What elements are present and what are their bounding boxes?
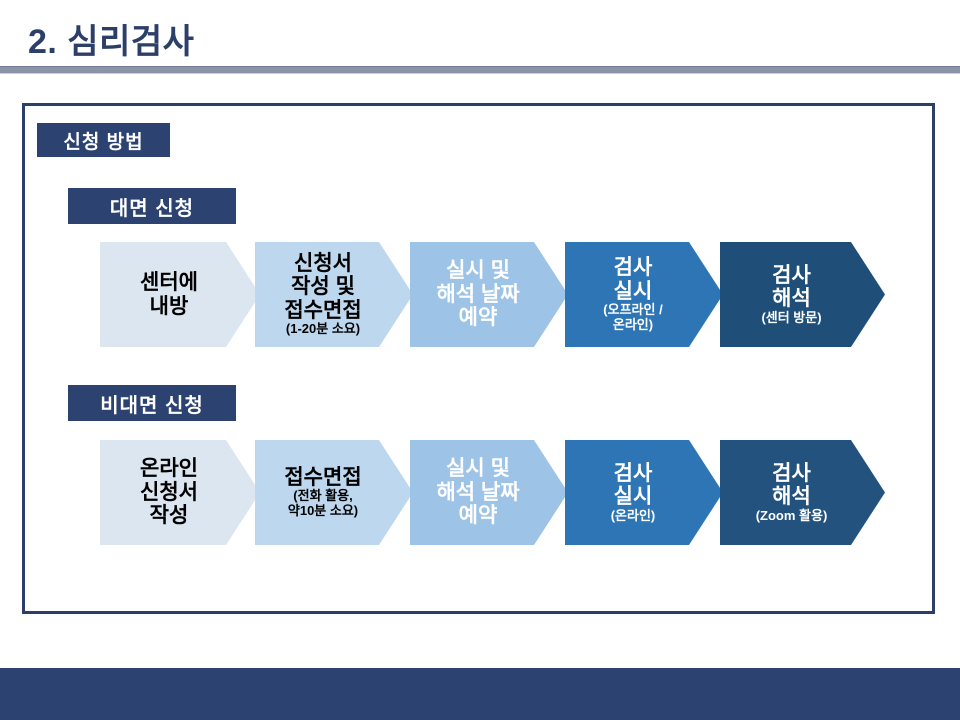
flow-step-sub-line: 온라인) bbox=[603, 318, 662, 333]
flow-step-online-1: 온라인신청서작성 bbox=[100, 440, 260, 545]
flow-step-sub-line: (전화 활용, bbox=[284, 489, 361, 504]
flow-step-main-line: 내방 bbox=[140, 295, 198, 319]
page-title: 2. 심리검사 bbox=[28, 14, 194, 63]
flow-step-content: 검사실시(오프라인 /온라인) bbox=[603, 256, 684, 333]
flow-step-main-line: 해석 bbox=[761, 287, 821, 311]
flow-step-sub-line: (Zoom 활용) bbox=[756, 509, 828, 524]
flow-step-content: 검사해석(센터 방문) bbox=[761, 264, 843, 326]
flow-step-main-line: 실시 bbox=[603, 280, 662, 304]
flow-step-content: 온라인신청서작성 bbox=[140, 457, 220, 528]
flow-step-content: 접수면접(전화 활용,약10분 소요) bbox=[284, 466, 383, 519]
flow-step-main-line: 검사 bbox=[756, 462, 828, 486]
footer-bar bbox=[0, 668, 960, 720]
flow-step-sub-line: (센터 방문) bbox=[761, 311, 821, 326]
flow-step-main-line: 실시 및 bbox=[436, 457, 519, 481]
flow-step-main-line: 작성 및 bbox=[284, 275, 361, 299]
flow-step-main-line: 접수면접 bbox=[284, 299, 361, 323]
flow-step-main-line: 작성 bbox=[140, 504, 198, 528]
flow-step-online-5: 검사해석(Zoom 활용) bbox=[720, 440, 885, 545]
flow-step-sub-line: (온라인) bbox=[611, 509, 656, 524]
flow-step-main-line: 접수면접 bbox=[284, 466, 361, 490]
flow-step-main-line: 예약 bbox=[436, 504, 519, 528]
flow-step-content: 센터에내방 bbox=[140, 271, 220, 318]
section-label-offline-application: 대면 신청 bbox=[68, 188, 236, 224]
flow-step-main-line: 해석 bbox=[756, 485, 828, 509]
flow-step-main-line: 예약 bbox=[436, 306, 519, 330]
flow-step-content: 실시 및해석 날짜예약 bbox=[436, 259, 541, 330]
flow-step-main-line: 검사 bbox=[761, 264, 821, 288]
title-divider bbox=[0, 66, 960, 74]
flow-step-sub-line: (1-20분 소요) bbox=[284, 322, 361, 337]
flow-step-main-line: 온라인 bbox=[140, 457, 198, 481]
flow-step-main-line: 검사 bbox=[611, 462, 656, 486]
flow-step-sub-line: 약10분 소요) bbox=[284, 504, 361, 519]
flow-step-main-line: 실시 bbox=[611, 485, 656, 509]
flow-step-main-line: 해석 날짜 bbox=[436, 481, 519, 505]
flow-step-main-line: 신청서 bbox=[140, 481, 198, 505]
flow-step-content: 실시 및해석 날짜예약 bbox=[436, 457, 541, 528]
flow-step-sub-line: (오프라인 / bbox=[603, 303, 662, 318]
flow-step-offline-5: 검사해석(센터 방문) bbox=[720, 242, 885, 347]
flow-step-offline-1: 센터에내방 bbox=[100, 242, 260, 347]
flow-step-main-line: 신청서 bbox=[284, 252, 361, 276]
flow-step-main-line: 해석 날짜 bbox=[436, 283, 519, 307]
section-label-apply-method: 신청 방법 bbox=[37, 123, 170, 157]
section-label-online-application: 비대면 신청 bbox=[68, 385, 236, 421]
flow-step-content: 검사해석(Zoom 활용) bbox=[756, 462, 850, 524]
flow-step-main-line: 센터에 bbox=[140, 271, 198, 295]
flow-step-content: 검사실시(온라인) bbox=[611, 462, 678, 524]
flow-step-main-line: 실시 및 bbox=[436, 259, 519, 283]
flow-step-main-line: 검사 bbox=[603, 256, 662, 280]
flow-step-content: 신청서작성 및접수면접(1-20분 소요) bbox=[284, 252, 383, 337]
